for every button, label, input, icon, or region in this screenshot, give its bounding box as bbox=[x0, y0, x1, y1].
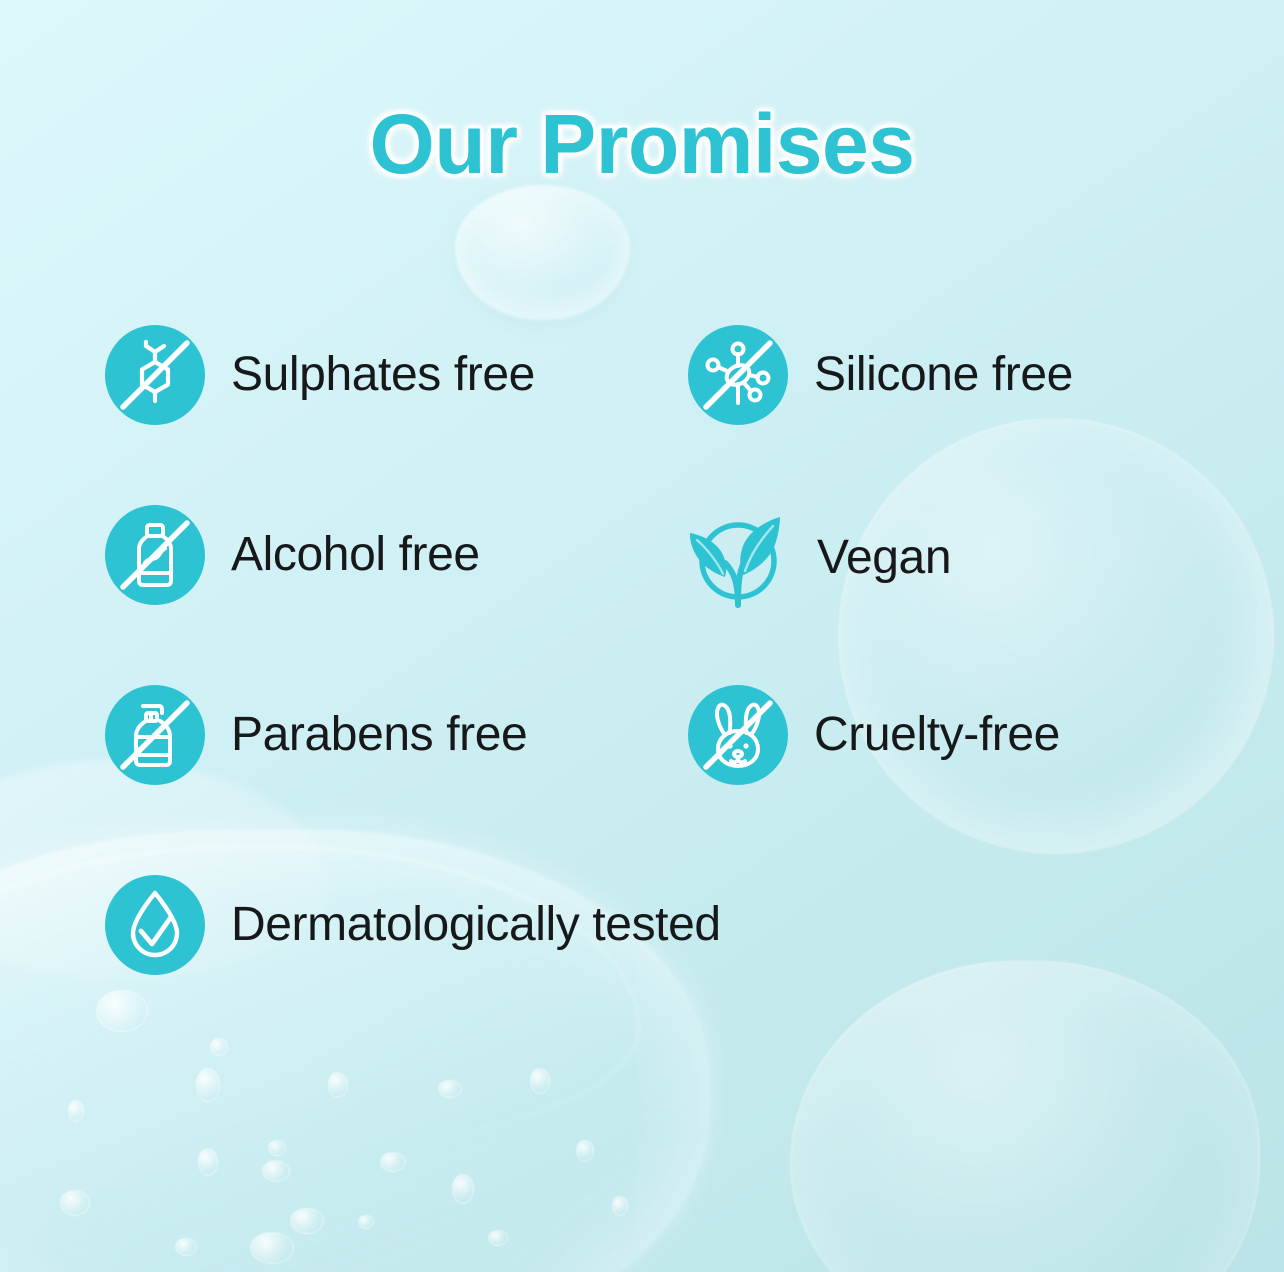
promise-item-silicone[interactable]: Silicone free bbox=[688, 325, 1073, 425]
promise-label: Sulphates free bbox=[231, 350, 535, 400]
promise-label: Dermatologically tested bbox=[231, 900, 721, 950]
bottle-no-icon bbox=[105, 505, 205, 605]
promise-item-vegan[interactable]: Vegan bbox=[685, 505, 951, 611]
promise-label: Cruelty-free bbox=[814, 710, 1060, 760]
molecule-network-no-icon bbox=[688, 325, 788, 425]
molecule-hexagon-no-icon bbox=[105, 325, 205, 425]
promise-item-parabens[interactable]: Parabens free bbox=[105, 685, 527, 785]
pump-bottle-no-icon bbox=[105, 685, 205, 785]
promise-label: Parabens free bbox=[231, 710, 527, 760]
promise-item-sulphates[interactable]: Sulphates free bbox=[105, 325, 535, 425]
water-drop-check-icon bbox=[105, 875, 205, 975]
promise-item-alcohol[interactable]: Alcohol free bbox=[105, 505, 480, 605]
rabbit-no-icon bbox=[688, 685, 788, 785]
promises-page: Our Promises bbox=[0, 0, 1284, 1272]
promise-item-cruelty-free[interactable]: Cruelty-free bbox=[688, 685, 1060, 785]
promise-label: Vegan bbox=[817, 533, 951, 583]
promise-item-dermatologically-tested[interactable]: Dermatologically tested bbox=[105, 875, 721, 975]
promises-grid: Sulphates free Alcoh bbox=[0, 0, 1284, 1272]
promise-label: Alcohol free bbox=[231, 530, 480, 580]
promise-label: Silicone free bbox=[814, 350, 1073, 400]
leaf-plant-icon bbox=[685, 505, 791, 611]
